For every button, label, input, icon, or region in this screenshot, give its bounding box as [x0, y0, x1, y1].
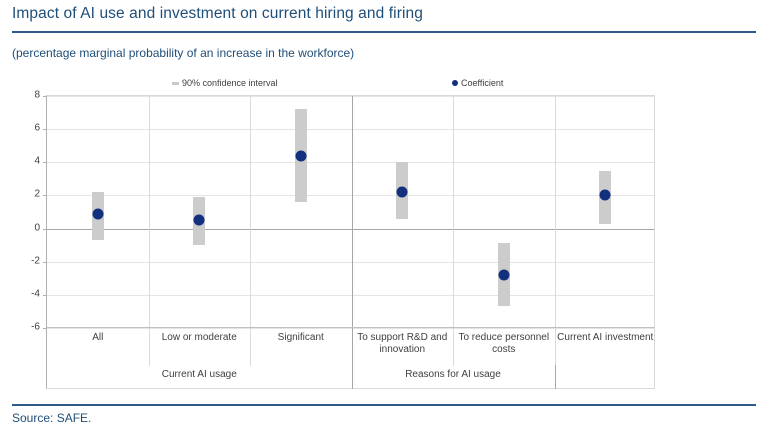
coefficient-point [92, 208, 103, 219]
gridline [47, 162, 654, 163]
y-axis-tick-label: 2 [0, 189, 40, 200]
group-label: Reasons for AI usage [352, 369, 555, 380]
chart-subtitle: (percentage marginal probability of an i… [12, 46, 354, 60]
category-label: To support R&D and innovation [352, 328, 454, 366]
gridline [47, 129, 654, 130]
y-axis-tick-label: 0 [0, 222, 40, 233]
legend-item-coefficient: Coefficient [452, 78, 503, 88]
source-divider [12, 404, 756, 406]
y-axis-tick-mark [43, 162, 47, 163]
column-separator [555, 96, 556, 327]
source-note: Source: SAFE. [12, 411, 91, 425]
column-separator [352, 96, 353, 327]
coefficient-point [498, 269, 509, 280]
category-label: Significant [250, 328, 352, 366]
coefficient-point [397, 187, 408, 198]
column-separator [453, 96, 454, 327]
coefficient-swatch-icon [452, 80, 458, 86]
y-axis-tick-mark [43, 262, 47, 263]
gridline [47, 295, 654, 296]
category-label: Current AI investment [555, 328, 657, 366]
gridline [47, 262, 654, 263]
group-divider [352, 365, 353, 389]
column-separator [250, 96, 251, 327]
y-axis-tick-label: 4 [0, 156, 40, 167]
category-label: Low or moderate [149, 328, 251, 366]
group-label: Current AI usage [47, 369, 352, 380]
column-separator [149, 96, 150, 327]
coefficient-point [194, 215, 205, 226]
legend-label-coefficient: Coefficient [461, 78, 503, 88]
legend-item-confidence-interval: 90% confidence interval [172, 78, 278, 88]
y-axis-tick-label: 8 [0, 90, 40, 101]
chart-plot-area [46, 95, 655, 327]
coefficient-point [600, 190, 611, 201]
group-axis: Current AI usageReasons for AI usage [46, 365, 655, 389]
category-label: All [47, 328, 149, 366]
category-axis: AllLow or moderateSignificantTo support … [46, 327, 655, 365]
y-axis-tick-label: -4 [0, 288, 40, 299]
gridline [47, 195, 654, 196]
category-label: To reduce personnel costs [453, 328, 555, 366]
y-axis-tick-mark [43, 295, 47, 296]
y-axis-tick-mark [43, 195, 47, 196]
category-divider [352, 328, 353, 366]
y-axis-tick-mark [43, 96, 47, 97]
chart-legend: 90% confidence interval Coefficient [46, 78, 656, 92]
legend-label-confidence-interval: 90% confidence interval [182, 78, 278, 88]
category-divider [453, 328, 454, 366]
title-divider [12, 31, 756, 33]
y-axis-tick-label: -2 [0, 255, 40, 266]
y-axis-tick-label: -6 [0, 322, 40, 333]
zero-axis-line [47, 229, 654, 230]
y-axis-tick-mark [43, 129, 47, 130]
category-divider [250, 328, 251, 366]
category-divider [149, 328, 150, 366]
y-axis-tick-mark [43, 229, 47, 230]
group-divider [555, 365, 556, 389]
gridline [47, 96, 654, 97]
y-axis-tick-label: 6 [0, 123, 40, 134]
page-title: Impact of AI use and investment on curre… [12, 5, 423, 23]
coefficient-point [295, 150, 306, 161]
category-divider [555, 328, 556, 366]
confidence-interval-swatch-icon [172, 82, 179, 85]
